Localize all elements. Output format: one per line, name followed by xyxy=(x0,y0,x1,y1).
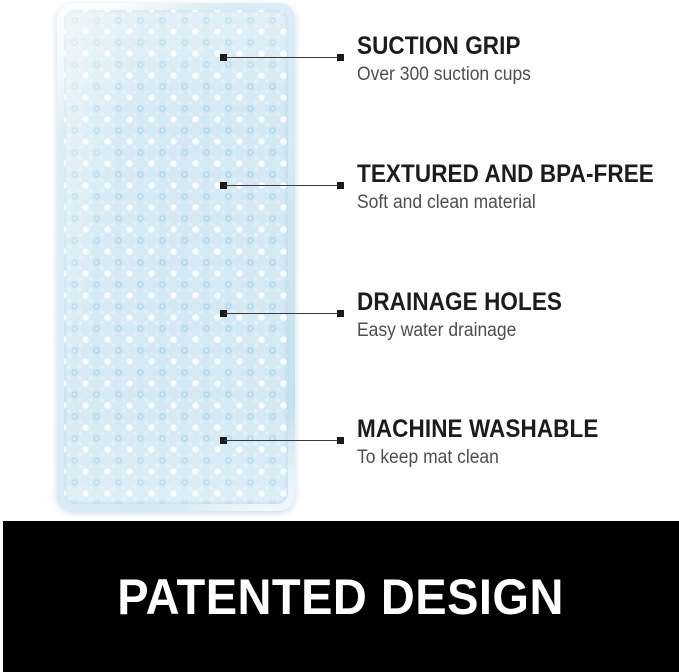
leader-line-1 xyxy=(220,53,344,62)
callout-title: TEXTURED AND BPA-FREE xyxy=(357,161,641,188)
callout-title: DRAINAGE HOLES xyxy=(357,289,641,316)
banner-headline: PATENTED DESIGN xyxy=(118,571,565,623)
callout-text-block: DRAINAGE HOLES Easy water drainage xyxy=(357,289,672,342)
leader-line-stroke xyxy=(224,185,340,186)
bottom-banner: PATENTED DESIGN xyxy=(3,521,679,672)
callout-subtitle: To keep mat clean xyxy=(357,446,647,469)
callout-title: SUCTION GRIP xyxy=(357,33,641,60)
callout-text-block: MACHINE WASHABLE To keep mat clean xyxy=(357,416,672,469)
leader-marker-text-end xyxy=(337,310,344,317)
leader-marker-text-end xyxy=(337,437,344,444)
callout-subtitle: Soft and clean material xyxy=(357,191,647,214)
leader-line-3 xyxy=(220,309,344,318)
callout-subtitle: Over 300 suction cups xyxy=(357,63,647,86)
leader-line-stroke xyxy=(224,313,340,314)
leader-line-stroke xyxy=(224,440,340,441)
callout-subtitle: Easy water drainage xyxy=(357,319,647,342)
suction-cup-hole-pattern xyxy=(64,10,288,504)
leader-line-4 xyxy=(220,436,344,445)
product-infographic: SUCTION GRIP Over 300 suction cups TEXTU… xyxy=(0,0,679,672)
leader-marker-text-end xyxy=(337,182,344,189)
leader-line-stroke xyxy=(224,57,340,58)
callout-title: MACHINE WASHABLE xyxy=(357,416,641,443)
callout-text-block: TEXTURED AND BPA-FREE Soft and clean mat… xyxy=(357,161,672,214)
mat-textured-surface xyxy=(64,10,288,504)
leader-marker-text-end xyxy=(337,54,344,61)
bath-mat-product-image xyxy=(57,3,295,511)
leader-line-2 xyxy=(220,181,344,190)
callout-text-block: SUCTION GRIP Over 300 suction cups xyxy=(357,33,672,86)
